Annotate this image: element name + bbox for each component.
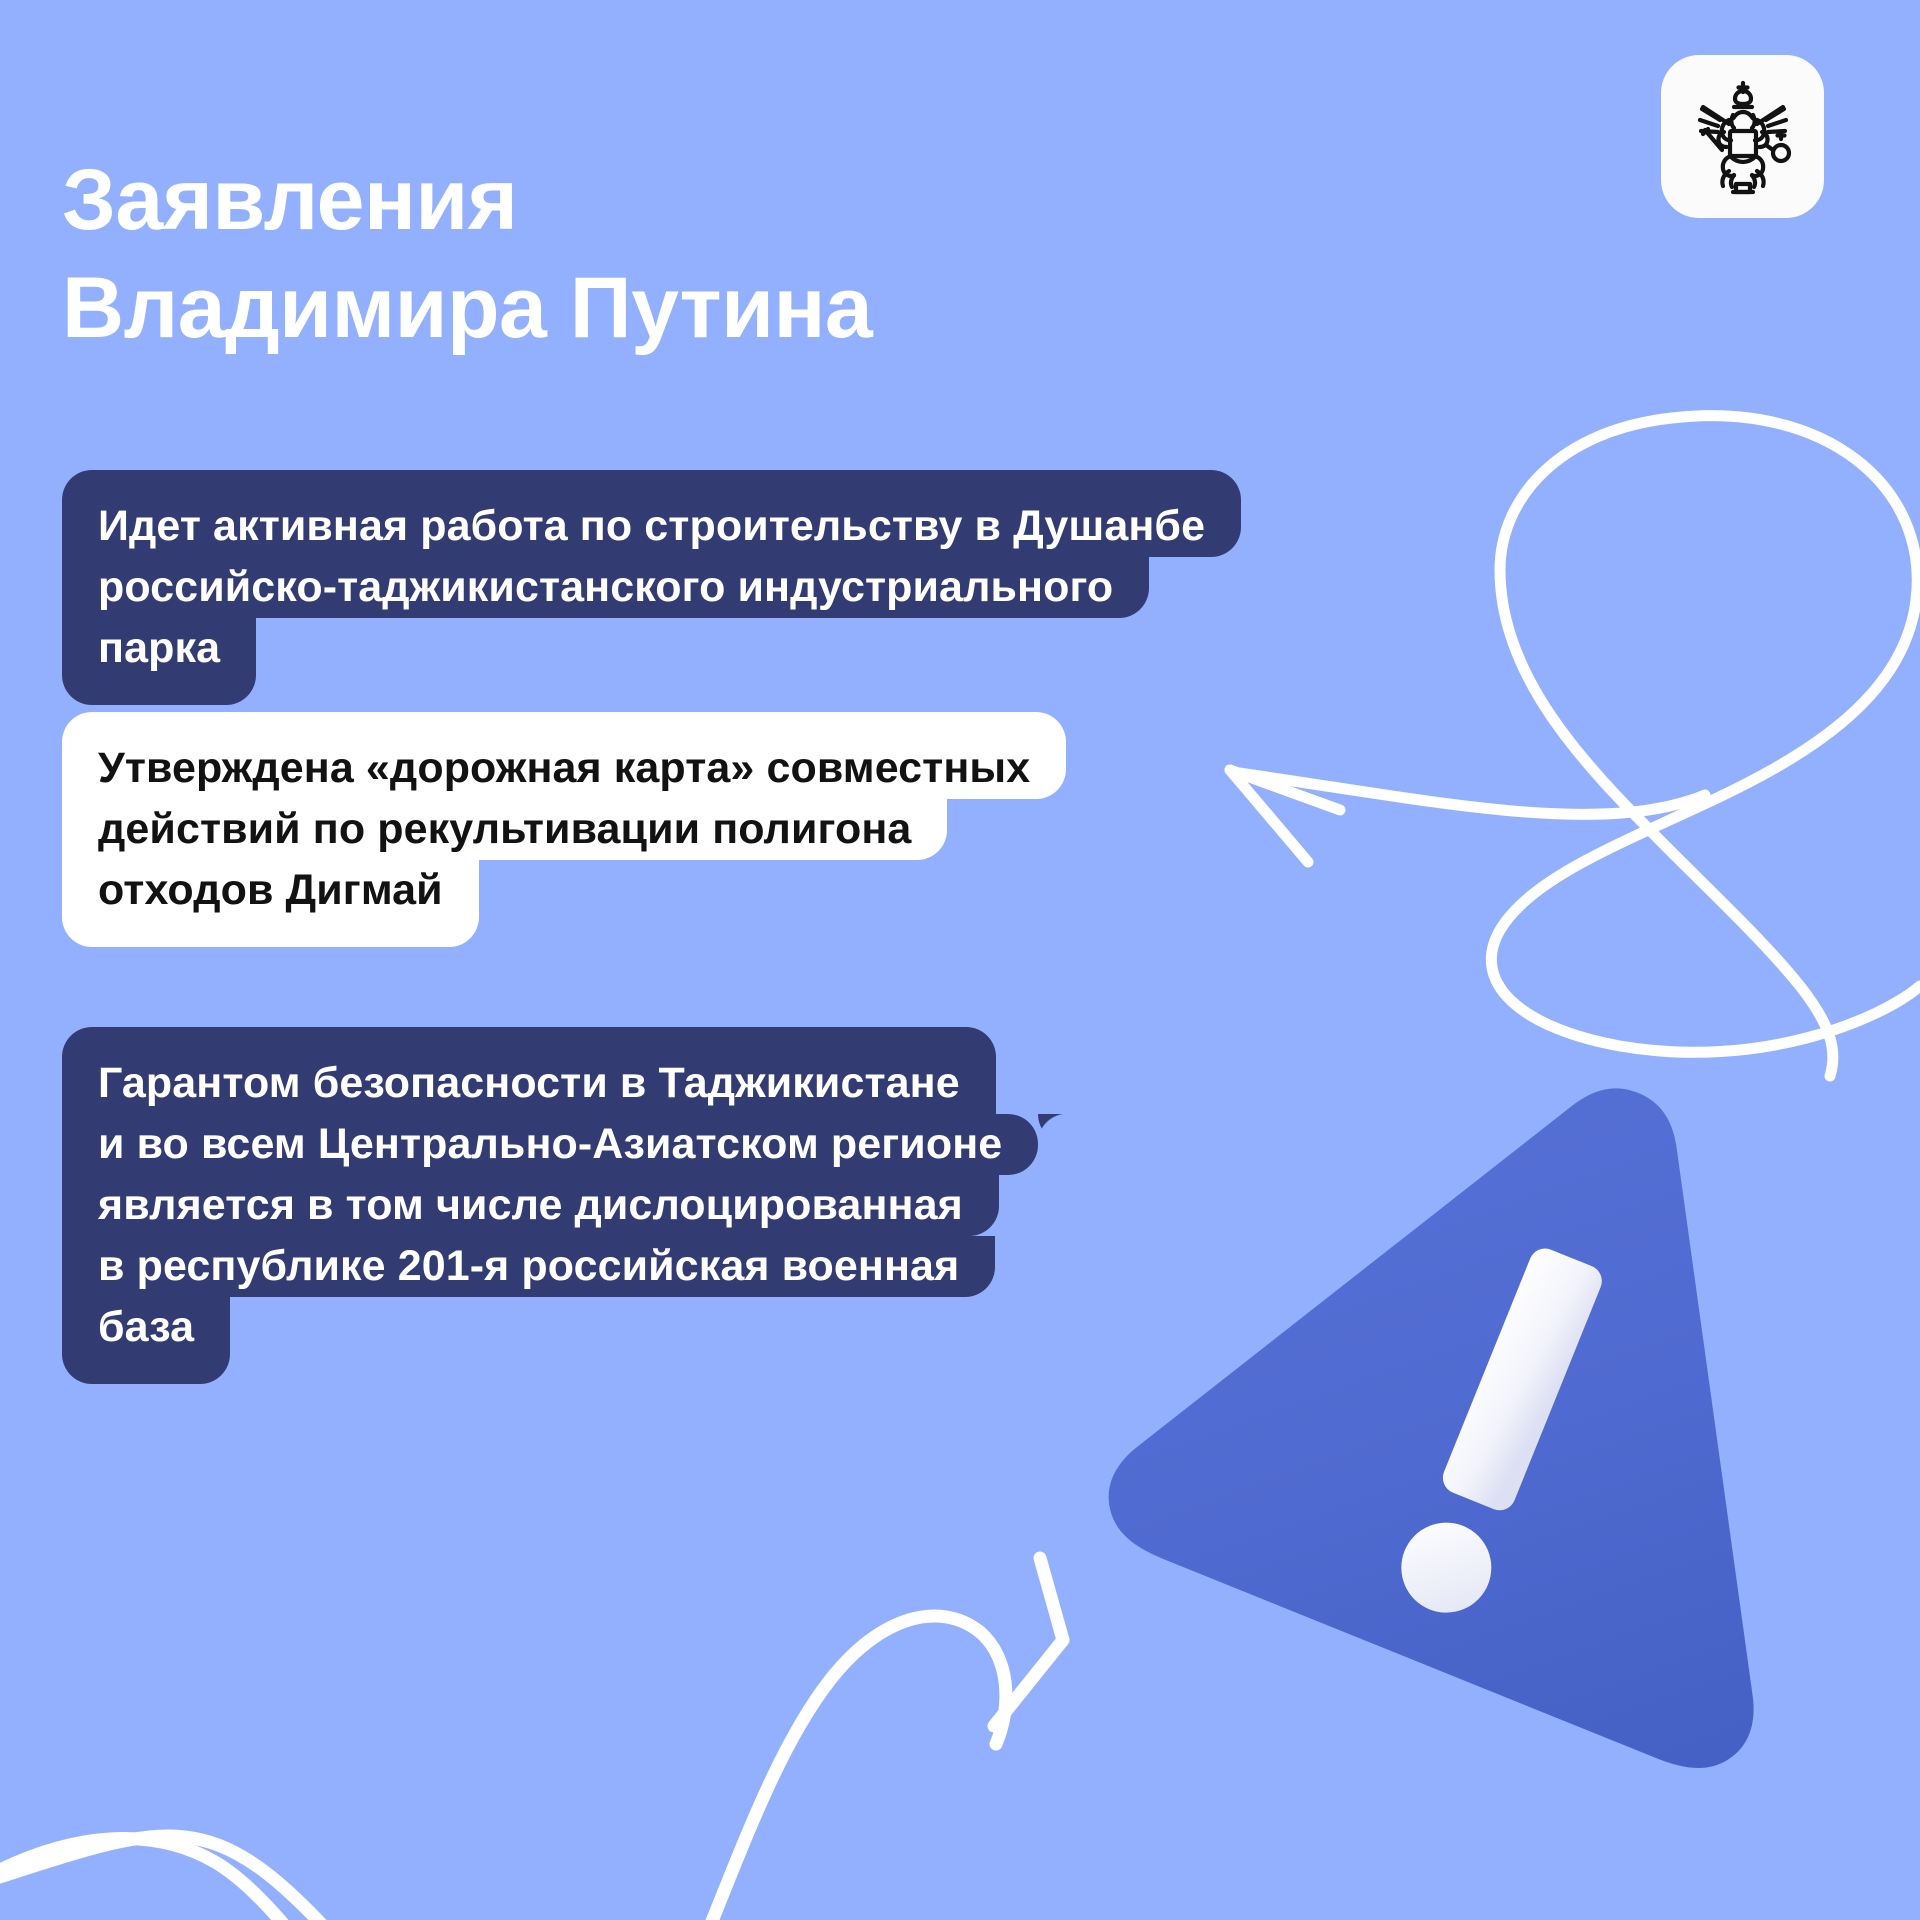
- statement-line: Гарантом безопасности в Таджикистане: [62, 1027, 1038, 1114]
- russian-emblem-logo: [1661, 55, 1824, 218]
- statement-line: Идет активная работа по строительству в …: [62, 470, 1241, 557]
- statement-line: является в том числе дислоцированная: [62, 1175, 1038, 1236]
- statement-line: Утверждена «дорожная карта» совместных: [62, 712, 1066, 799]
- statement-3-line-5: база: [62, 1297, 230, 1384]
- bubble-notch: [1038, 1145, 1068, 1175]
- statement-line: парка: [62, 618, 1241, 705]
- statement-line: в республике 201-я российская военная: [62, 1236, 1038, 1297]
- statement-2-line-2: действий по рекультивации полигона: [62, 799, 947, 860]
- bubble-notch: [1149, 588, 1179, 618]
- curved-arrow-top-right-icon: [1230, 416, 1920, 1076]
- bubble-notch: [1066, 769, 1096, 799]
- statement-bubble-2: Утверждена «дорожная карта» совместных д…: [62, 712, 1066, 947]
- bubble-notch: [1038, 1114, 1068, 1144]
- statement-3-line-4: в республике 201-я российская военная: [62, 1236, 995, 1297]
- bubble-notch: [995, 1267, 1025, 1297]
- statement-line: российско-таджикистанского индустриально…: [62, 557, 1241, 618]
- bubble-notch: [1241, 527, 1271, 557]
- statement-1-line-3: парка: [62, 618, 256, 705]
- statement-3-line-1: Гарантом безопасности в Таджикистане: [62, 1027, 996, 1114]
- statement-1-line-1: Идет активная работа по строительству в …: [62, 470, 1241, 557]
- infographic-canvas: Заявления Владимира Путина Идет активная…: [0, 0, 1920, 1920]
- statement-line: отходов Дигмай: [62, 860, 1066, 947]
- statement-line: база: [62, 1297, 1038, 1384]
- page-title: Заявления Владимира Путина: [62, 146, 1482, 363]
- statement-2-line-3: отходов Дигмай: [62, 860, 479, 947]
- statement-2-line-1: Утверждена «дорожная карта» совместных: [62, 712, 1066, 799]
- statement-3-line-3: является в том числе дислоцированная: [62, 1175, 999, 1236]
- statement-bubble-3: Гарантом безопасности в Таджикистане и в…: [62, 1027, 1038, 1384]
- wavy-arrow-bottom-left-icon: [0, 1558, 1063, 1920]
- warning-triangle-icon: [1100, 1010, 1920, 1770]
- bubble-notch: [947, 830, 977, 860]
- statement-bubble-1: Идет активная работа по строительству в …: [62, 470, 1241, 705]
- statement-3-line-2: и во всем Центрально-Азиатском регионе: [62, 1114, 1038, 1175]
- statement-line: и во всем Центрально-Азиатском регионе: [62, 1114, 1038, 1175]
- title-line-1: Заявления: [62, 146, 1482, 254]
- statement-line: действий по рекультивации полигона: [62, 799, 1066, 860]
- statement-1-line-2: российско-таджикистанского индустриально…: [62, 557, 1149, 618]
- bubble-notch: [999, 1206, 1029, 1236]
- title-line-2: Владимира Путина: [62, 254, 1482, 362]
- double-headed-eagle-icon: [1689, 79, 1797, 195]
